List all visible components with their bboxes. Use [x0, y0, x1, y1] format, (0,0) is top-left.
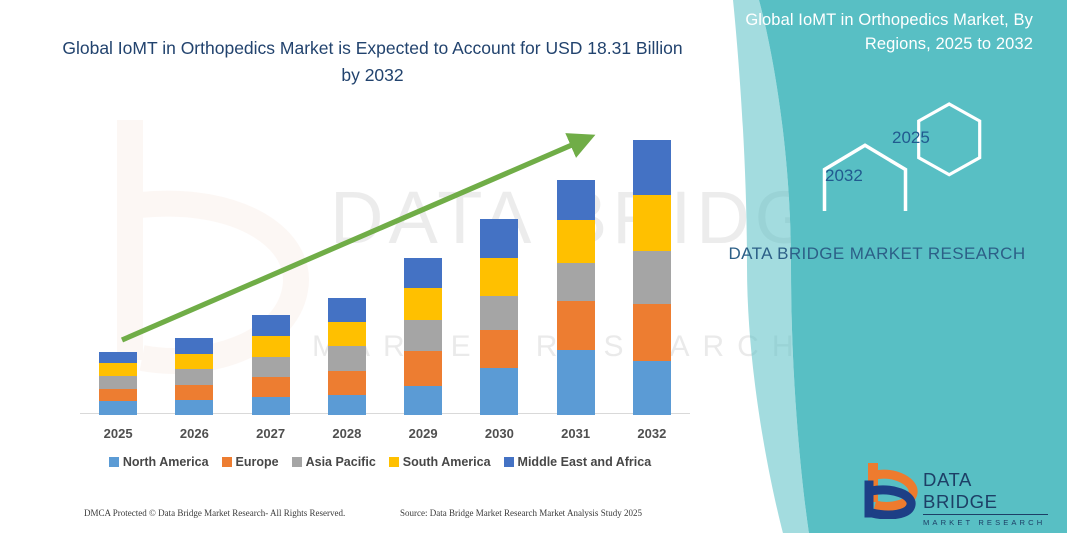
- bar-segment: [404, 320, 442, 351]
- bar-column: [175, 338, 213, 415]
- x-axis-label: 2026: [164, 426, 224, 441]
- panel-title: Global IoMT in Orthopedics Market, By Re…: [733, 8, 1033, 56]
- bar-segment: [328, 371, 366, 395]
- chart-legend: North AmericaEuropeAsia PacificSouth Ame…: [0, 455, 760, 469]
- legend-item[interactable]: Europe: [222, 455, 279, 469]
- bar-segment: [252, 397, 290, 415]
- legend-swatch: [222, 457, 232, 467]
- bar-segment: [175, 400, 213, 415]
- bar-segment: [175, 385, 213, 400]
- x-axis-label: 2032: [622, 426, 682, 441]
- brand-logo: DATA BRIDGE MARKET RESEARCH: [863, 463, 1048, 521]
- bar-segment: [175, 338, 213, 354]
- bar-segment: [480, 296, 518, 330]
- logo-mark-b-icon: [863, 463, 923, 519]
- bar-segment: [480, 368, 518, 415]
- legend-item[interactable]: North America: [109, 455, 209, 469]
- bar-segment: [99, 401, 137, 415]
- bar-segment: [557, 263, 595, 301]
- x-axis-labels: 20252026202720282029203020312032: [80, 420, 690, 446]
- bar-segment: [99, 389, 137, 401]
- footer-copyright: DMCA Protected © Data Bridge Market Rese…: [84, 508, 345, 518]
- bar-segment: [99, 376, 137, 389]
- legend-swatch: [504, 457, 514, 467]
- legend-label: Asia Pacific: [306, 455, 376, 469]
- x-axis-label: 2031: [546, 426, 606, 441]
- bar-column: [404, 258, 442, 415]
- bar-segment: [328, 322, 366, 346]
- hexagon-label-2025: 2025: [892, 128, 930, 148]
- legend-label: Middle East and Africa: [518, 455, 652, 469]
- page-title: Global IoMT in Orthopedics Market is Exp…: [60, 35, 685, 89]
- bar-segment: [557, 180, 595, 220]
- bar-segment: [633, 140, 671, 195]
- bar-segment: [328, 346, 366, 371]
- hexagon-outline-icon: [782, 86, 1022, 211]
- bar-segment: [633, 251, 671, 304]
- legend-item[interactable]: Asia Pacific: [292, 455, 376, 469]
- year-hexagons: 2032 2025: [782, 86, 1022, 211]
- bar-segment: [252, 377, 290, 397]
- bar-segment: [557, 350, 595, 415]
- x-axis-label: 2027: [241, 426, 301, 441]
- bar-segment: [328, 395, 366, 415]
- bar-column: [480, 219, 518, 415]
- x-axis-label: 2025: [88, 426, 148, 441]
- footer: DMCA Protected © Data Bridge Market Rese…: [0, 508, 700, 528]
- bar-segment: [99, 352, 137, 363]
- infographic-root: DATA BRIDGE MARKET RESEARCH Global IoMT …: [0, 0, 1067, 533]
- bar-segment: [404, 258, 442, 288]
- bar-segment: [175, 354, 213, 369]
- logo-tagline: MARKET RESEARCH: [923, 518, 1048, 527]
- right-panel: Global IoMT in Orthopedics Market, By Re…: [687, 0, 1067, 533]
- bar-segment: [404, 351, 442, 386]
- bar-column: [252, 315, 290, 415]
- bar-segment: [175, 369, 213, 385]
- bar-segment: [252, 315, 290, 336]
- bar-segment: [633, 195, 671, 251]
- bar-segment: [480, 219, 518, 258]
- footer-source: Source: Data Bridge Market Research Mark…: [400, 508, 642, 518]
- bar-segment: [404, 386, 442, 415]
- hexagon-label-2032: 2032: [825, 166, 863, 186]
- bar-column: [328, 298, 366, 415]
- bar-segment: [480, 330, 518, 368]
- bar-segment: [557, 301, 595, 350]
- legend-swatch: [109, 457, 119, 467]
- bar-segment: [480, 258, 518, 296]
- bars-container: [80, 110, 690, 415]
- bar-segment: [633, 304, 671, 361]
- bar-segment: [252, 357, 290, 377]
- x-axis-label: 2029: [393, 426, 453, 441]
- logo-name: DATA BRIDGE: [923, 469, 1048, 515]
- legend-label: North America: [123, 455, 209, 469]
- panel-brand-text: DATA BRIDGE MARKET RESEARCH: [687, 240, 1067, 268]
- bar-column: [99, 352, 137, 415]
- x-axis-label: 2030: [469, 426, 529, 441]
- legend-item[interactable]: Middle East and Africa: [504, 455, 652, 469]
- bar-column: [633, 140, 671, 415]
- bar-segment: [252, 336, 290, 357]
- legend-swatch: [389, 457, 399, 467]
- bar-segment: [404, 288, 442, 320]
- logo-wordmark: DATA BRIDGE MARKET RESEARCH: [923, 469, 1048, 527]
- legend-label: Europe: [236, 455, 279, 469]
- bar-segment: [557, 220, 595, 263]
- legend-item[interactable]: South America: [389, 455, 491, 469]
- x-axis-label: 2028: [317, 426, 377, 441]
- bar-column: [557, 180, 595, 415]
- legend-swatch: [292, 457, 302, 467]
- bar-segment: [328, 298, 366, 322]
- legend-label: South America: [403, 455, 491, 469]
- bar-segment: [633, 361, 671, 415]
- bar-segment: [99, 363, 137, 376]
